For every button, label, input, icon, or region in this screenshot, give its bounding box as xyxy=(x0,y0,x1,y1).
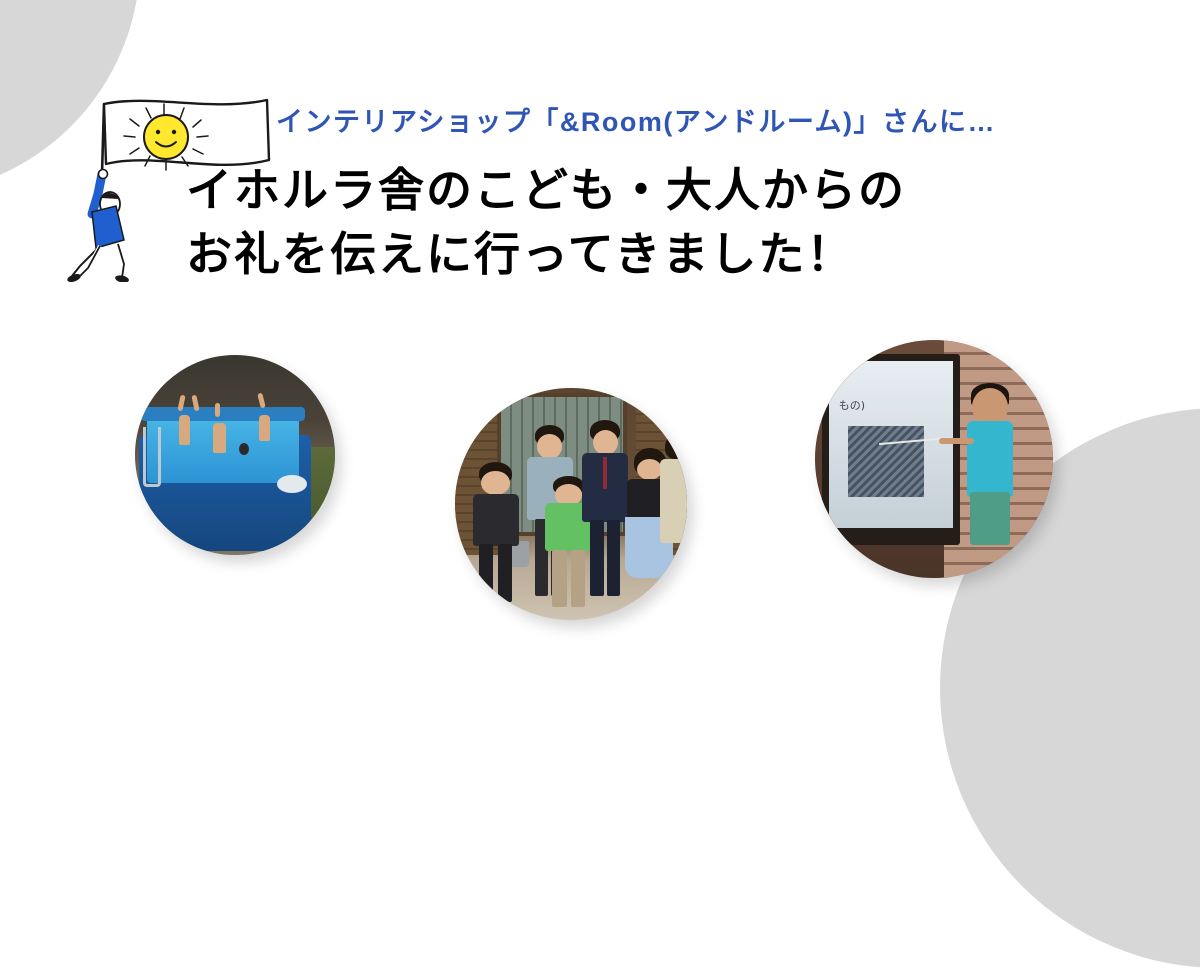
title-block: インテリアショップ「&Room(アンドルーム)」さんに… イホルラ舎のこども・大… xyxy=(186,108,996,285)
headline-line-2: お礼を伝えに行ってきました！ xyxy=(186,224,996,285)
photo-group xyxy=(455,388,687,620)
photo-pool xyxy=(135,355,335,555)
person-figure xyxy=(66,170,129,283)
headline-line-1: イホルラ舎のこども・大人からの xyxy=(186,160,996,221)
projector-screen-text: もの) xyxy=(839,397,865,413)
photo-presentation: もの) xyxy=(815,340,1053,578)
sun-icon xyxy=(144,115,188,159)
subtitle: インテリアショップ「&Room(アンドルーム)」さんに… xyxy=(276,108,996,138)
